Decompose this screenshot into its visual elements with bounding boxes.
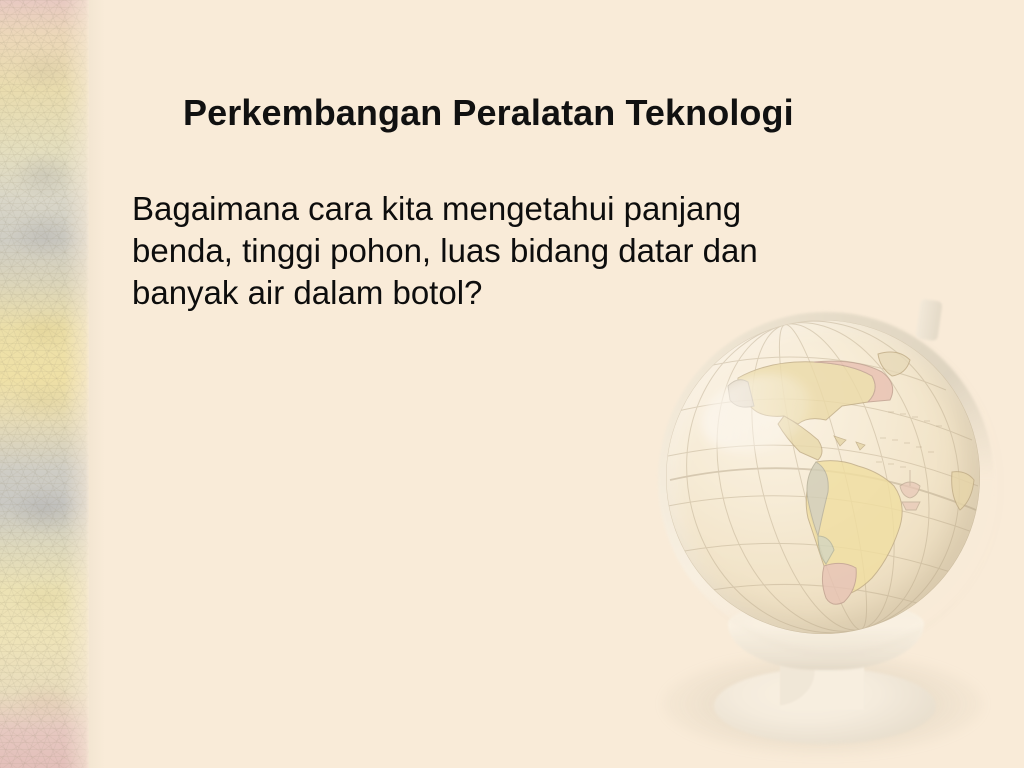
map-strip-edge-gradient (89, 0, 105, 768)
slide-body-text: Bagaimana cara kita mengetahui panjang b… (132, 188, 922, 314)
body-line: benda, tinggi pohon, luas bidang datar d… (132, 230, 922, 272)
decorative-map-strip (0, 0, 89, 768)
map-strip-right-fade (0, 0, 89, 768)
slide-canvas: Perkembangan Peralatan Teknologi Bagaima… (0, 0, 1024, 768)
globe-sphere (666, 320, 980, 634)
globe-illustration (640, 300, 1024, 768)
body-line: banyak air dalam botol? (132, 272, 922, 314)
slide-title: Perkembangan Peralatan Teknologi (183, 90, 943, 136)
globe-continents (666, 320, 980, 634)
body-line: Bagaimana cara kita mengetahui panjang (132, 188, 922, 230)
